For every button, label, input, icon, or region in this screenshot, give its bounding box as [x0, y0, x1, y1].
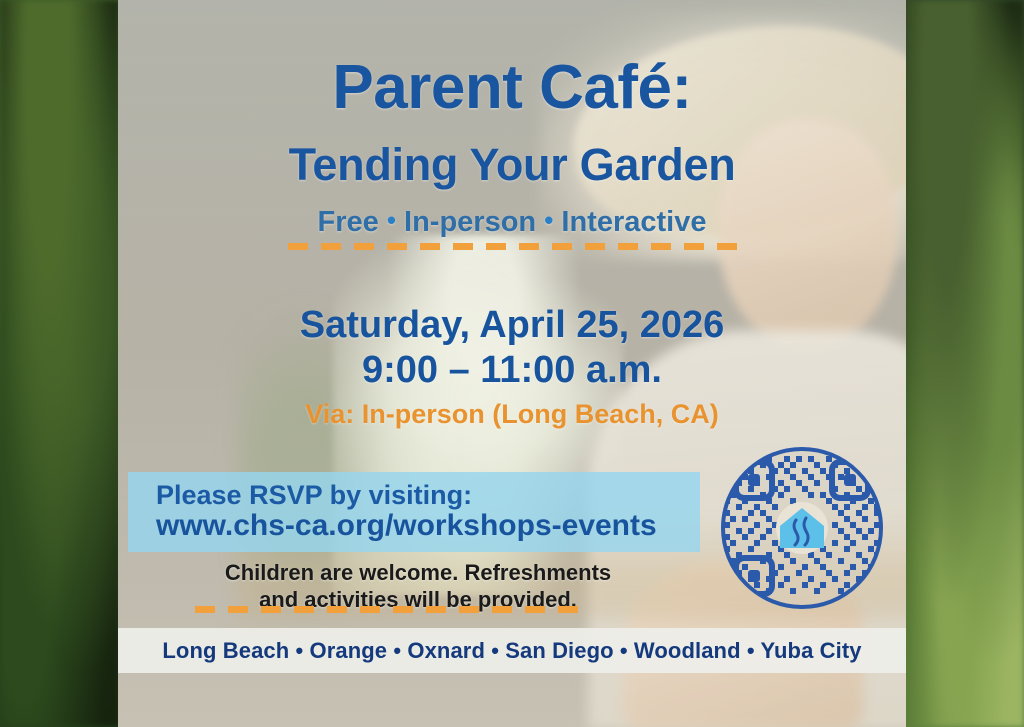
event-note-line1: Children are welcome. Refreshments — [118, 559, 718, 586]
rsvp-url-link[interactable]: www.chs-ca.org/workshops-events — [156, 510, 700, 542]
background-foliage-right — [905, 0, 1024, 727]
event-location: Via: In-person (Long Beach, CA) — [118, 401, 906, 428]
background-foliage-left — [0, 0, 120, 727]
qr-code-icon — [718, 444, 886, 612]
tagline-item-interactive: Interactive — [561, 206, 706, 238]
city-list-bar: Long Beach • Orange • Oxnard • San Diego… — [118, 628, 906, 673]
city-list: Long Beach • Orange • Oxnard • San Diego… — [162, 638, 861, 664]
flyer-content: Parent Café: Tending Your Garden Free • … — [118, 0, 906, 727]
event-title: Parent Café: — [118, 57, 906, 119]
event-time: 9:00 – 11:00 a.m. — [118, 348, 906, 393]
bullet-separator-icon: • — [387, 205, 396, 235]
qr-code[interactable] — [718, 444, 886, 612]
dashed-divider-top — [288, 243, 746, 250]
event-datetime: Saturday, April 25, 2026 9:00 – 11:00 a.… — [118, 303, 906, 393]
event-subtitle: Tending Your Garden — [118, 142, 906, 187]
event-date: Saturday, April 25, 2026 — [118, 303, 906, 348]
dashed-divider-bottom — [195, 606, 579, 613]
rsvp-box[interactable]: Please RSVP by visiting: www.chs-ca.org/… — [128, 472, 700, 552]
bullet-separator-icon: • — [544, 205, 553, 235]
tagline-item-in-person: In-person — [404, 206, 536, 238]
rsvp-prompt: Please RSVP by visiting: — [156, 481, 700, 510]
event-flyer: Parent Café: Tending Your Garden Free • … — [0, 0, 1024, 727]
tagline-item-free: Free — [318, 206, 379, 238]
event-tagline: Free • In-person • Interactive — [118, 207, 906, 237]
